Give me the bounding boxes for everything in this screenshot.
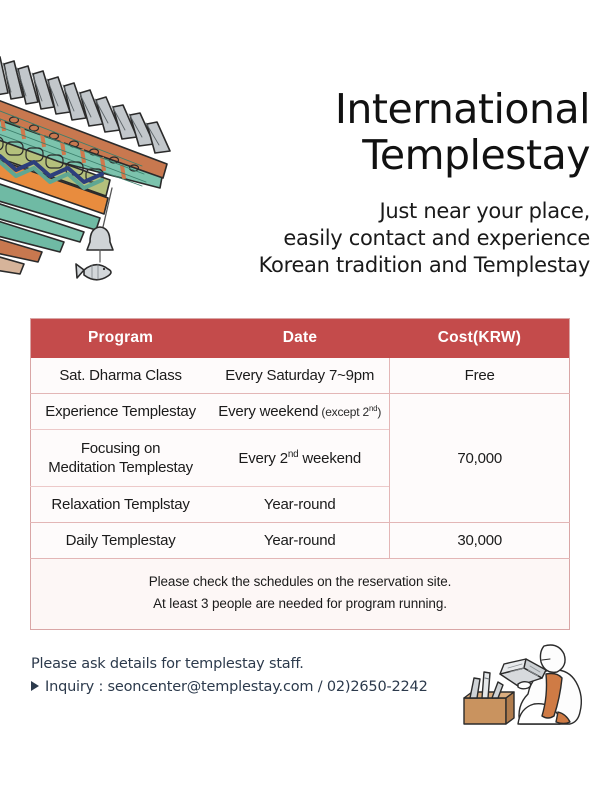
roof-rafters [0,104,146,186]
roof-eave-board-1 [0,178,100,230]
date-note-text: (except 2 [321,405,369,419]
roof-bracket-beam [0,134,110,196]
cell-notes: Please check the schedules on the reserv… [31,559,570,630]
page-subtitle: Just near your place, easily contact and… [140,198,590,279]
cell-program: Daily Templestay [31,523,211,559]
cell-date: Year-round [210,523,390,559]
column-header-program: Program [31,319,211,359]
column-header-date: Date [210,319,390,359]
monk-arm [520,670,542,680]
open-book [500,668,542,686]
cell-cost: Free [390,358,570,394]
monk-hand [518,682,531,689]
cell-program: Sat. Dharma Class [31,358,211,394]
bell-fish-clapper [76,264,111,280]
roof-soffit [0,96,164,188]
cell-date: Year-round [210,487,390,523]
subtitle-line-2: easily contact and experience [140,225,590,252]
monk-legs [518,704,561,724]
roof-eave-board-3 [0,216,64,252]
bell-cord [100,188,112,240]
column-header-cost: Cost(KRW) [390,319,570,359]
program-schedule-table: Program Date Cost(KRW) Sat. Dharma Class… [30,318,570,630]
roof-tile-shading [0,60,159,145]
roof-eave-board-4 [0,234,42,262]
cell-date: Every 2nd weekend [210,430,390,487]
inquiry-separator: / [313,679,327,695]
wind-bell [87,227,113,250]
roof-tiles [0,56,170,153]
monk-kasaya-fold [556,712,570,724]
program-line-1: Focusing on [33,439,208,458]
date-post-text: weekend [298,450,361,467]
cell-program: Relaxation Templstay [31,487,211,523]
monk-robe [519,670,581,724]
inquiry-phone[interactable]: 02)2650-2242 [327,679,428,695]
cell-program: Focusing on Meditation Templestay [31,430,211,487]
dancheong-band [0,154,108,214]
footer-inquiry-line: Inquiry : seoncenter@templestay.com / 02… [31,676,451,699]
note-line-2: At least 3 people are needed for program… [31,593,569,615]
subtitle-line-1: Just near your place, [140,198,590,225]
cell-cost: 30,000 [390,523,570,559]
cell-cost: 70,000 [390,394,570,523]
cell-program: Experience Templestay [31,394,211,430]
inquiry-label: Inquiry : [45,679,108,695]
cell-date: Every Saturday 7~9pm [210,358,390,394]
roof-eave-board-5 [0,252,24,274]
date-note-end: ) [377,405,381,419]
title-line-1: International [170,86,590,132]
monk-kasaya-sash [542,674,562,719]
cell-date: Every weekend (except 2nd) [210,394,390,430]
page-title: International Templestay [170,86,590,178]
program-line-2: Meditation Templestay [33,458,208,477]
table-row: Daily Templestay Year-round 30,000 [31,523,570,559]
dancheong-zigzag-teal [0,162,102,188]
footer-contact-block: Please ask details for templestay staff.… [31,653,451,699]
scroll-box [464,672,514,724]
monk-reading-illustration [458,628,598,733]
table-row: Experience Templestay Every weekend (exc… [31,394,570,430]
footer-ask-details-line: Please ask details for templestay staff. [31,653,451,676]
title-line-2: Templestay [170,132,590,178]
roof-bracket-ends [0,137,103,182]
table-notes-row: Please check the schedules on the reserv… [31,559,570,630]
table-header-row: Program Date Cost(KRW) [31,319,570,359]
subtitle-line-3: Korean tradition and Templestay [140,252,590,279]
date-pre-text: Every 2 [238,450,287,467]
monk-head [540,645,565,672]
roof-eave-board-2 [0,198,84,242]
roof-terracotta-band [0,94,167,178]
dancheong-zigzag-navy [0,156,102,182]
note-line-1: Please check the schedules on the reserv… [31,571,569,593]
table-row: Sat. Dharma Class Every Saturday 7~9pm F… [31,358,570,394]
triangle-bullet-icon [31,681,39,691]
date-main-text: Every weekend [218,403,318,420]
date-superscript: nd [288,449,299,460]
inquiry-email[interactable]: seoncenter@templestay.com [108,679,314,695]
